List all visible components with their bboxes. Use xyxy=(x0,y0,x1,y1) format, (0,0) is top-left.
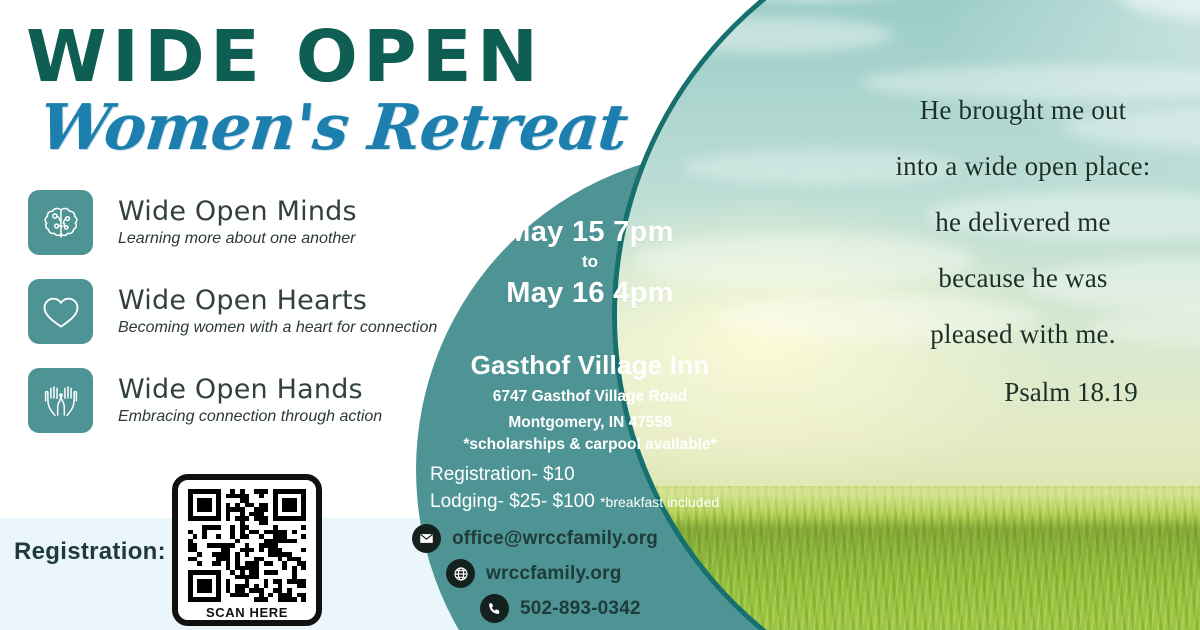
qr-code-pattern xyxy=(188,489,306,602)
feature-subtitle: Embracing connection through action xyxy=(118,408,382,426)
event-date-separator: to xyxy=(400,249,780,275)
contact-list: office@wrccfamily.org wrccfamily.org 502… xyxy=(412,524,658,629)
page-title: WIDE OPEN Women's Retreat xyxy=(26,22,627,159)
lodging-price: Lodging- $25- $100 xyxy=(430,491,595,512)
event-end-date: May 16 4pm xyxy=(400,276,780,310)
qr-caption: SCAN HERE xyxy=(200,605,294,620)
phone-icon xyxy=(480,594,509,623)
feature-list: Wide Open Minds Learning more about one … xyxy=(28,190,437,457)
title-womens-retreat: Women's Retreat xyxy=(37,96,630,159)
envelope-icon xyxy=(412,524,441,553)
event-details: May 15 7pm to May 16 4pm Gasthof Village… xyxy=(400,215,780,454)
event-venue: Gasthof Village Inn xyxy=(400,350,780,381)
feature-title: Wide Open Hearts xyxy=(118,286,437,316)
event-address-line-2: Montgomery, IN 47558 xyxy=(400,412,780,433)
contact-email-text: office@wrccfamily.org xyxy=(452,528,658,550)
heart-icon xyxy=(28,279,93,344)
registration-price: Registration- $10 xyxy=(430,462,719,489)
event-note: *scholarships & carpool available* xyxy=(400,436,780,454)
event-address-line-1: 6747 Gasthof Village Road xyxy=(400,386,780,407)
hands-icon xyxy=(28,368,93,433)
scripture-line: He brought me out xyxy=(617,97,1200,124)
feature-item-hands: Wide Open Hands Embracing connection thr… xyxy=(28,368,437,433)
qr-code[interactable]: SCAN HERE xyxy=(172,474,322,626)
flyer-canvas: He brought me out into a wide open place… xyxy=(0,0,1200,630)
title-wide-open: WIDE OPEN xyxy=(26,22,645,92)
contact-phone[interactable]: 502-893-0342 xyxy=(480,594,658,623)
feature-text-hands: Wide Open Hands Embracing connection thr… xyxy=(118,375,382,426)
feature-item-minds: Wide Open Minds Learning more about one … xyxy=(28,190,437,255)
feature-text-minds: Wide Open Minds Learning more about one … xyxy=(118,197,357,248)
scripture-reference: Psalm 18.19 xyxy=(1004,377,1138,408)
globe-icon xyxy=(446,559,475,588)
lodging-price-row: Lodging- $25- $100 *breakfast included xyxy=(430,489,719,516)
contact-website-text: wrccfamily.org xyxy=(486,563,622,585)
feature-title: Wide Open Minds xyxy=(118,197,357,227)
scripture-line: into a wide open place: xyxy=(617,153,1200,180)
feature-text-hearts: Wide Open Hearts Becoming women with a h… xyxy=(118,286,437,337)
contact-website[interactable]: wrccfamily.org xyxy=(446,559,658,588)
contact-phone-text: 502-893-0342 xyxy=(520,598,641,620)
feature-subtitle: Learning more about one another xyxy=(118,230,357,248)
feature-item-hearts: Wide Open Hearts Becoming women with a h… xyxy=(28,279,437,344)
feature-title: Wide Open Hands xyxy=(118,375,382,405)
pricing-block: Registration- $10 Lodging- $25- $100 *br… xyxy=(430,462,719,516)
registration-label: Registration: xyxy=(14,538,166,566)
event-start-date: May 15 7pm xyxy=(400,215,780,249)
feature-subtitle: Becoming women with a heart for connecti… xyxy=(118,319,437,337)
brain-icon xyxy=(28,190,93,255)
lodging-note: *breakfast included xyxy=(600,494,719,510)
contact-email[interactable]: office@wrccfamily.org xyxy=(412,524,658,553)
